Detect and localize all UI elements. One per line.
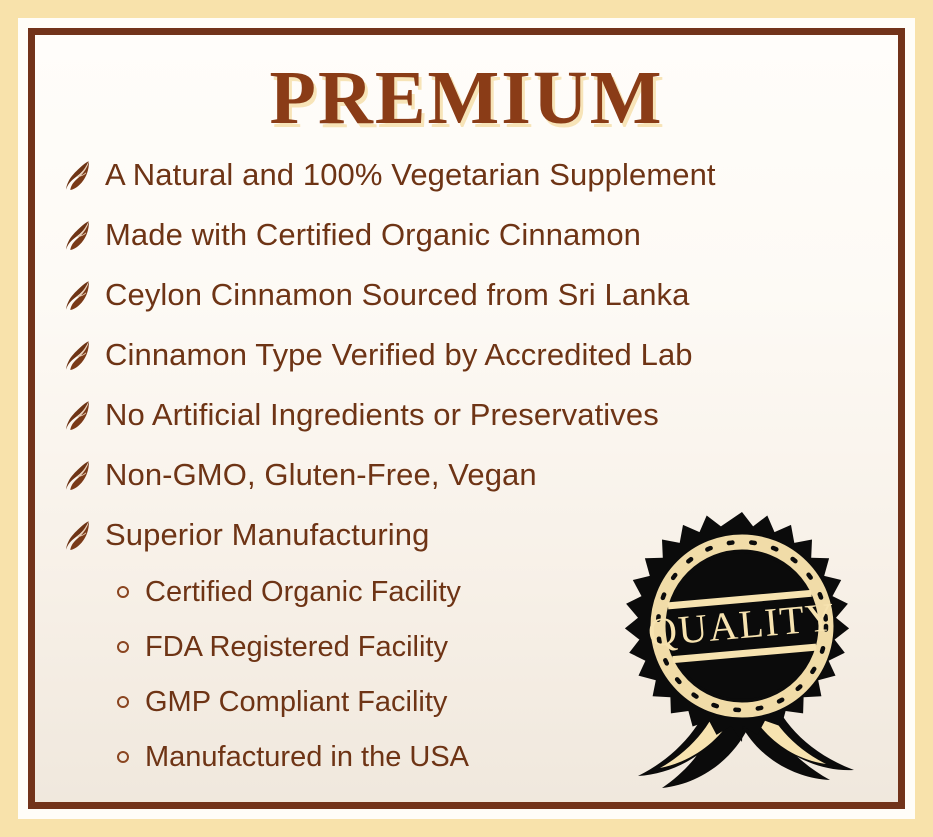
- list-item-label: Certified Organic Facility: [145, 576, 461, 609]
- list-item-label: Made with Certified Organic Cinnamon: [105, 217, 641, 253]
- page-title: PREMIUM: [35, 59, 898, 139]
- list-item-label: Ceylon Cinnamon Sourced from Sri Lanka: [105, 277, 689, 313]
- feature-list: A Natural and 100% Vegetarian Supplement…: [35, 145, 898, 565]
- list-item: Superior Manufacturing: [65, 505, 898, 565]
- list-item-label: Non-GMO, Gluten-Free, Vegan: [105, 457, 537, 493]
- leaf-icon: [65, 220, 91, 250]
- list-item: Cinnamon Type Verified by Accredited Lab: [65, 325, 898, 385]
- list-item: Non-GMO, Gluten-Free, Vegan: [65, 445, 898, 505]
- leaf-icon: [65, 400, 91, 430]
- panel-inner-gap: PREMIUM A Natural and 100% Vegetarian Su…: [18, 18, 915, 819]
- list-item-label: FDA Registered Facility: [145, 631, 448, 664]
- list-item-label: A Natural and 100% Vegetarian Supplement: [105, 157, 716, 193]
- circle-bullet-icon: [117, 641, 129, 653]
- leaf-icon: [65, 160, 91, 190]
- list-item: Made with Certified Organic Cinnamon: [65, 205, 898, 265]
- circle-bullet-icon: [117, 586, 129, 598]
- list-item: FDA Registered Facility: [117, 620, 898, 675]
- sub-feature-list: Certified Organic Facility FDA Registere…: [35, 565, 898, 785]
- leaf-icon: [65, 520, 91, 550]
- list-item: Certified Organic Facility: [117, 565, 898, 620]
- leaf-icon: [65, 340, 91, 370]
- leaf-icon: [65, 280, 91, 310]
- list-item-label: Superior Manufacturing: [105, 517, 429, 553]
- list-item: GMP Compliant Facility: [117, 675, 898, 730]
- leaf-icon: [65, 460, 91, 490]
- circle-bullet-icon: [117, 751, 129, 763]
- panel-brown-frame: PREMIUM A Natural and 100% Vegetarian Su…: [28, 28, 905, 809]
- list-item-label: Manufactured in the USA: [145, 741, 469, 774]
- list-item: No Artificial Ingredients or Preservativ…: [65, 385, 898, 445]
- list-item: A Natural and 100% Vegetarian Supplement: [65, 145, 898, 205]
- circle-bullet-icon: [117, 696, 129, 708]
- list-item-label: GMP Compliant Facility: [145, 686, 447, 719]
- list-item-label: No Artificial Ingredients or Preservativ…: [105, 397, 659, 433]
- list-item-label: Cinnamon Type Verified by Accredited Lab: [105, 337, 693, 373]
- promo-panel: PREMIUM A Natural and 100% Vegetarian Su…: [0, 0, 933, 837]
- list-item: Manufactured in the USA: [117, 730, 898, 785]
- list-item: Ceylon Cinnamon Sourced from Sri Lanka: [65, 265, 898, 325]
